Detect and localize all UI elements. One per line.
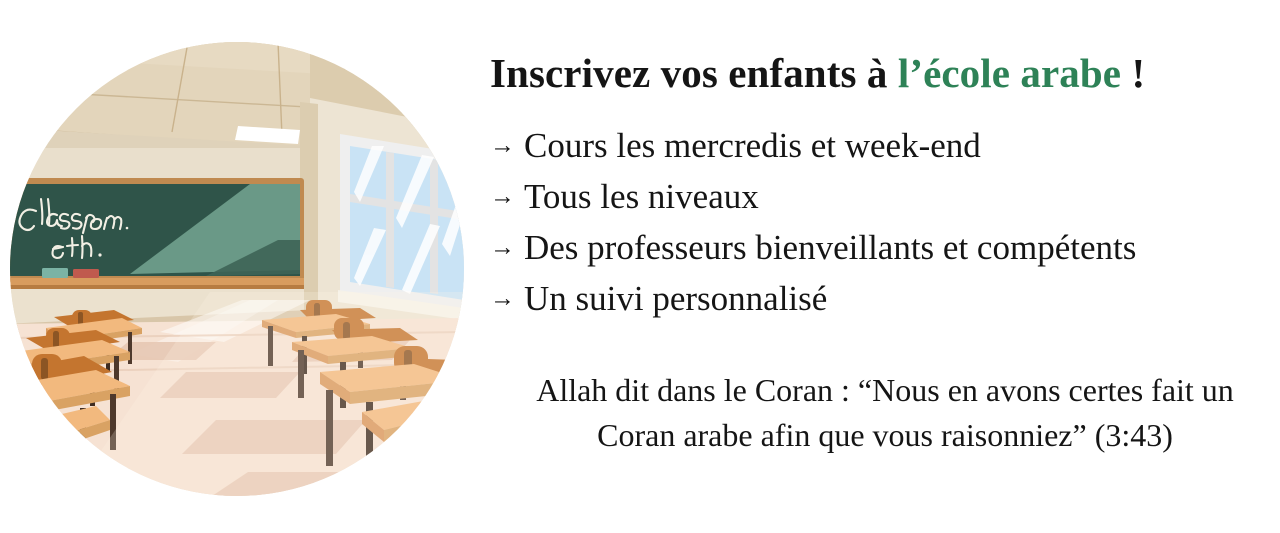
feature-list: → Cours les mercredis et week-end → Tous… [490, 128, 1270, 332]
chalkboard-ledge [10, 278, 304, 285]
list-item: → Un suivi personnalisé [490, 281, 1270, 316]
window-mullion [386, 152, 394, 288]
poster-root: Inscrivez vos enfants à l’école arabe ! … [0, 0, 1280, 533]
list-item: → Tous les niveaux [490, 179, 1270, 214]
eraser-red [73, 269, 99, 278]
chalkboard-ledge-shadow [10, 285, 304, 289]
list-item-label: Tous les niveaux [524, 179, 759, 214]
eraser-teal [42, 268, 68, 278]
arrow-right-icon: → [490, 235, 524, 260]
quran-quote: Allah dit dans le Coran : “Nous en avons… [490, 368, 1280, 459]
headline-lead: Inscrivez vos enfants à [490, 50, 898, 96]
list-item-label: Cours les mercredis et week-end [524, 128, 981, 163]
arrow-right-icon: → [490, 286, 524, 311]
list-item: → Cours les mercredis et week-end [490, 128, 1270, 163]
illustration-scene [10, 42, 464, 496]
classroom-illustration [10, 42, 464, 496]
classroom-illustration-svg [10, 42, 464, 496]
arrow-right-icon: → [490, 133, 524, 158]
quote-line-2: Coran arabe afin que vous raisonniez” (3… [490, 413, 1280, 458]
poster-text-column: Inscrivez vos enfants à l’école arabe ! … [487, 0, 1280, 533]
headline-accent: l’école arabe [898, 50, 1121, 96]
arrow-right-icon: → [490, 184, 524, 209]
list-item-label: Un suivi personnalisé [524, 281, 827, 316]
list-item-label: Des professeurs bienveillants et compéte… [524, 230, 1136, 265]
headline-tail: ! [1121, 50, 1145, 96]
page-title: Inscrivez vos enfants à l’école arabe ! [490, 51, 1145, 97]
quote-line-1: Allah dit dans le Coran : “Nous en avons… [490, 368, 1280, 413]
chalkboard-group [10, 178, 304, 289]
list-item: → Des professeurs bienveillants et compé… [490, 230, 1270, 265]
ceiling-light-panel [28, 90, 78, 104]
